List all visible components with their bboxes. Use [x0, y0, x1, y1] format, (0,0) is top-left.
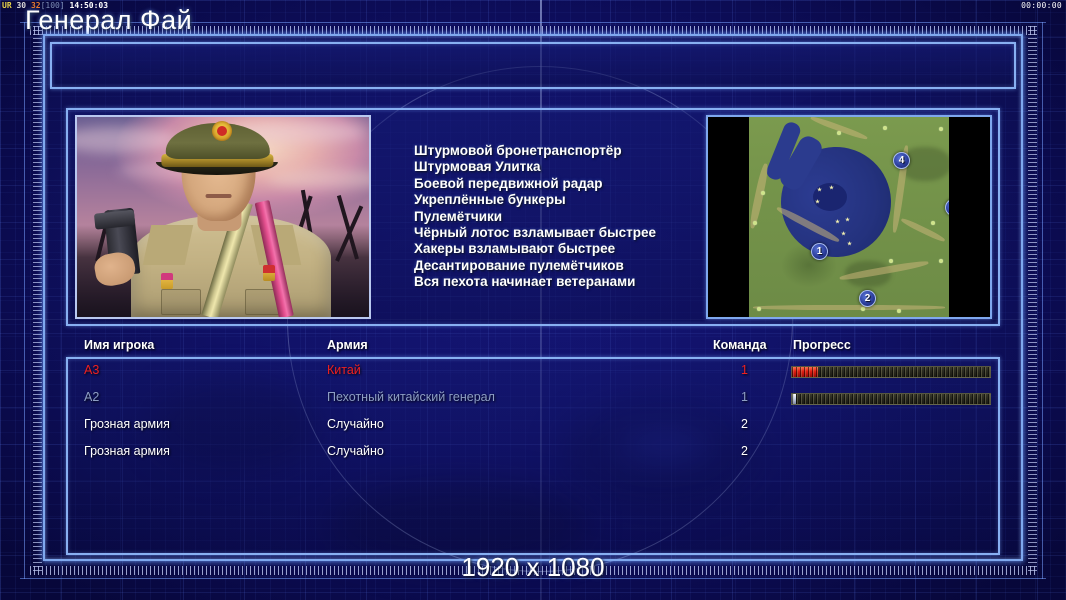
player-team[interactable]: 1	[741, 363, 748, 377]
map-tree-icon	[931, 221, 935, 225]
map-start-position-label: 1	[817, 246, 823, 257]
player-list: A3 Китай 1 A2 Пехотный китайский генерал…	[66, 359, 1000, 479]
portrait-pocket	[161, 289, 201, 315]
player-progress-bar	[791, 366, 991, 378]
player-army[interactable]: Пехотный китайский генерал	[327, 390, 495, 404]
portrait-medal	[161, 273, 173, 289]
player-army[interactable]: Случайно	[327, 444, 384, 458]
map-tree-icon	[883, 126, 887, 130]
game-screen: UR 30 32[100] 14:50:03 00:00:00 Генерал …	[0, 0, 1066, 600]
map-preview[interactable]: 1 2 3 4	[706, 115, 992, 319]
table-row[interactable]: Грозная армия Случайно 2	[66, 440, 1000, 467]
map-tree-icon	[753, 221, 757, 225]
frame-edge-line-right	[1042, 22, 1043, 579]
map-tree-icon	[897, 309, 901, 313]
map-tree-icon	[889, 259, 893, 263]
player-team[interactable]: 2	[741, 417, 748, 431]
portrait-mouth	[206, 194, 232, 198]
map-start-position-label: 2	[865, 293, 871, 304]
top-status-bar: UR 30 32[100] 14:50:03 00:00:00	[0, 0, 1066, 12]
map-tree-icon	[757, 307, 761, 311]
map-tree-icon	[761, 191, 765, 195]
map-tree-icon	[837, 131, 841, 135]
ability-item: Штурмовой бронетранспортёр	[414, 143, 656, 159]
status-ur-label: UR	[2, 1, 12, 10]
ruler-strip-left	[33, 26, 42, 574]
resolution-overlay: 1920 x 1080	[0, 552, 1066, 583]
ability-item: Укреплённые бункеры	[414, 192, 656, 208]
player-table-header: Имя игрока Армия Команда Прогресс	[66, 338, 1000, 358]
status-value-1: 30	[16, 1, 26, 10]
player-army[interactable]: Китай	[327, 363, 361, 377]
frame-edge-line-left	[24, 22, 25, 579]
map-path	[753, 305, 945, 310]
table-row[interactable]: A2 Пехотный китайский генерал 1	[66, 386, 1000, 413]
map-terrain: 1 2 3 4	[749, 117, 949, 317]
title-panel	[50, 42, 1016, 89]
status-left-group: UR 30 32[100] 14:50:03	[2, 0, 108, 12]
player-progress-fill	[792, 367, 818, 377]
player-name[interactable]: A2	[84, 390, 99, 404]
player-army[interactable]: Случайно	[327, 417, 384, 431]
ability-item: Вся пехота начинает ветеранами	[414, 274, 656, 290]
ability-item: Штурмовая Улитка	[414, 159, 656, 175]
player-progress-bar	[791, 393, 991, 405]
table-row[interactable]: A3 Китай 1	[66, 359, 1000, 386]
general-abilities-list: Штурмовой бронетранспортёр Штурмовая Ули…	[414, 143, 656, 291]
column-header-player: Имя игрока	[84, 338, 154, 352]
map-tree-icon	[939, 127, 943, 131]
ruler-strip-right	[1028, 26, 1037, 574]
map-start-position[interactable]: 4	[893, 152, 910, 169]
player-team[interactable]: 1	[741, 390, 748, 404]
map-tree-icon	[861, 307, 865, 311]
ability-item: Пулемётчики	[414, 209, 656, 225]
player-team[interactable]: 2	[741, 444, 748, 458]
column-header-team: Команда	[713, 338, 767, 352]
ability-item: Боевой передвижной радар	[414, 176, 656, 192]
ability-item: Чёрный лотос взламывает быстрее	[414, 225, 656, 241]
status-value-2: 32	[31, 1, 41, 10]
map-path	[900, 217, 946, 243]
column-header-progress: Прогресс	[793, 338, 851, 352]
status-bracket-value: [100]	[41, 1, 65, 10]
map-start-position[interactable]: 3	[945, 199, 949, 216]
table-row[interactable]: Грозная армия Случайно 2	[66, 413, 1000, 440]
general-portrait	[75, 115, 371, 319]
player-name[interactable]: Грозная армия	[84, 444, 170, 458]
portrait-cap-emblem-icon	[212, 121, 232, 141]
player-progress-fill	[792, 394, 796, 404]
portrait-medal	[263, 265, 275, 281]
map-start-position[interactable]: 1	[811, 243, 828, 260]
portrait-collar-left	[143, 225, 194, 265]
map-start-position-label: 4	[899, 155, 905, 166]
ability-item: Десантирование пулемётчиков	[414, 258, 656, 274]
match-timer: 00:00:00	[1021, 0, 1062, 12]
map-path	[749, 163, 770, 229]
map-tree-icon	[939, 259, 943, 263]
ability-item: Хакеры взламывают быстрее	[414, 241, 656, 257]
map-path	[810, 117, 868, 141]
map-start-position[interactable]: 2	[859, 290, 876, 307]
column-header-army: Армия	[327, 338, 368, 352]
status-clock: 14:50:03	[70, 1, 109, 10]
player-name[interactable]: A3	[84, 363, 99, 377]
player-name[interactable]: Грозная армия	[84, 417, 170, 431]
